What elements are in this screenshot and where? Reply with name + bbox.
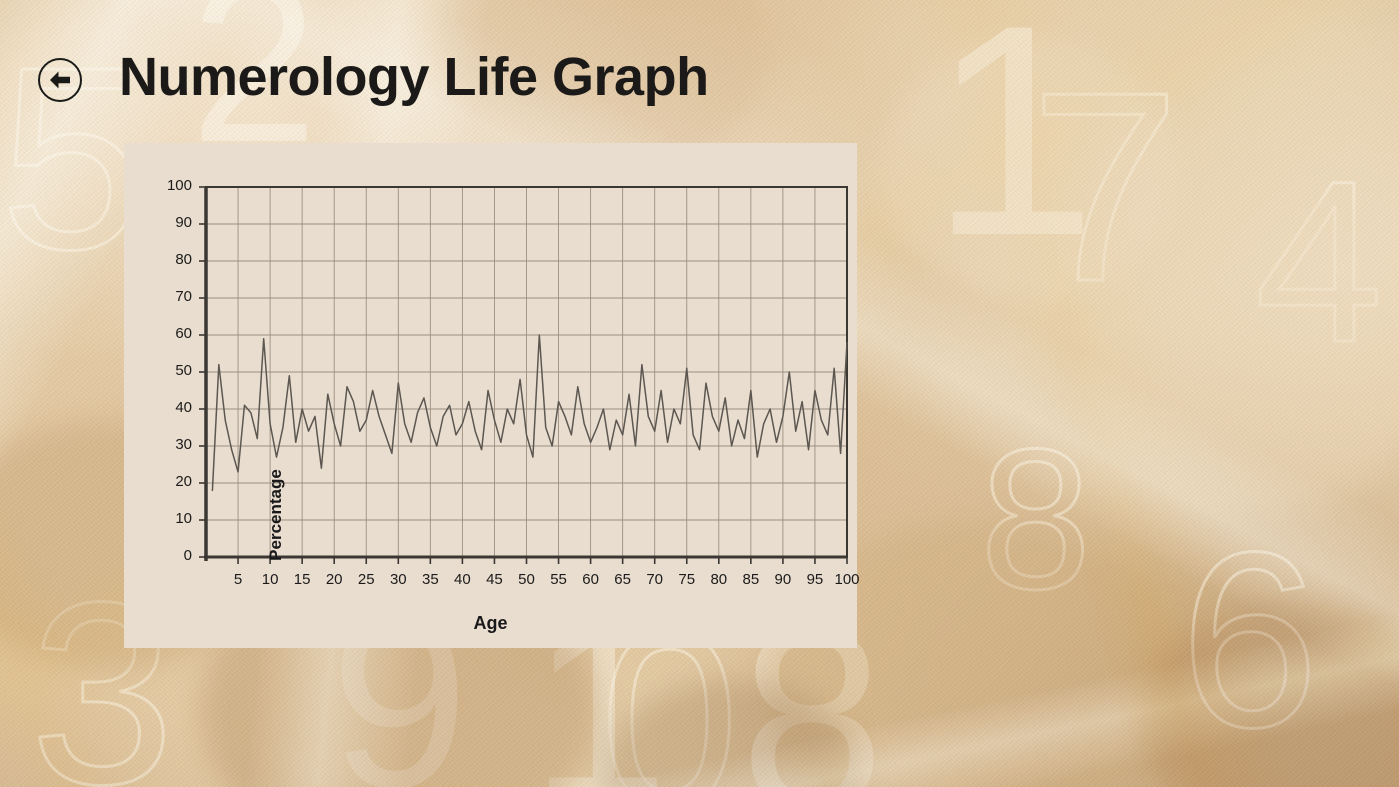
y-axis-tick-label: 40 bbox=[130, 399, 192, 416]
y-axis-tick-label: 70 bbox=[130, 288, 192, 305]
back-arrow-icon[interactable] bbox=[38, 58, 82, 102]
y-axis-tick-label: 10 bbox=[130, 510, 192, 527]
watermark-digit: 6 bbox=[1180, 540, 1319, 740]
y-axis-tick-label: 20 bbox=[130, 473, 192, 490]
y-axis-tick-label: 100 bbox=[130, 177, 192, 194]
header: Numerology Life Graph bbox=[0, 0, 1399, 140]
back-arrow-glyph bbox=[47, 69, 73, 91]
watermark-digit: 8 bbox=[980, 440, 1091, 600]
x-axis-tick-label: 100 bbox=[827, 571, 867, 588]
app-root: 2 5 1 7 3 9 6 8 4 0 1 8 Numerology Life … bbox=[0, 0, 1399, 787]
y-axis-tick-label: 0 bbox=[130, 547, 192, 564]
x-axis-title: Age bbox=[124, 613, 857, 634]
y-axis-tick-label: 60 bbox=[130, 325, 192, 342]
chart-gridlines bbox=[206, 187, 847, 557]
y-axis-tick-label: 80 bbox=[130, 251, 192, 268]
y-axis-tick-label: 30 bbox=[130, 436, 192, 453]
y-axis-title: Percentage bbox=[266, 469, 286, 561]
watermark-digit: 4 bbox=[1255, 170, 1383, 354]
chart-panel: Percentage Age 0102030405060708090100 51… bbox=[124, 143, 857, 648]
y-axis-tick-label: 90 bbox=[130, 214, 192, 231]
y-axis-tick-label: 50 bbox=[130, 362, 192, 379]
page-title: Numerology Life Graph bbox=[119, 46, 709, 108]
